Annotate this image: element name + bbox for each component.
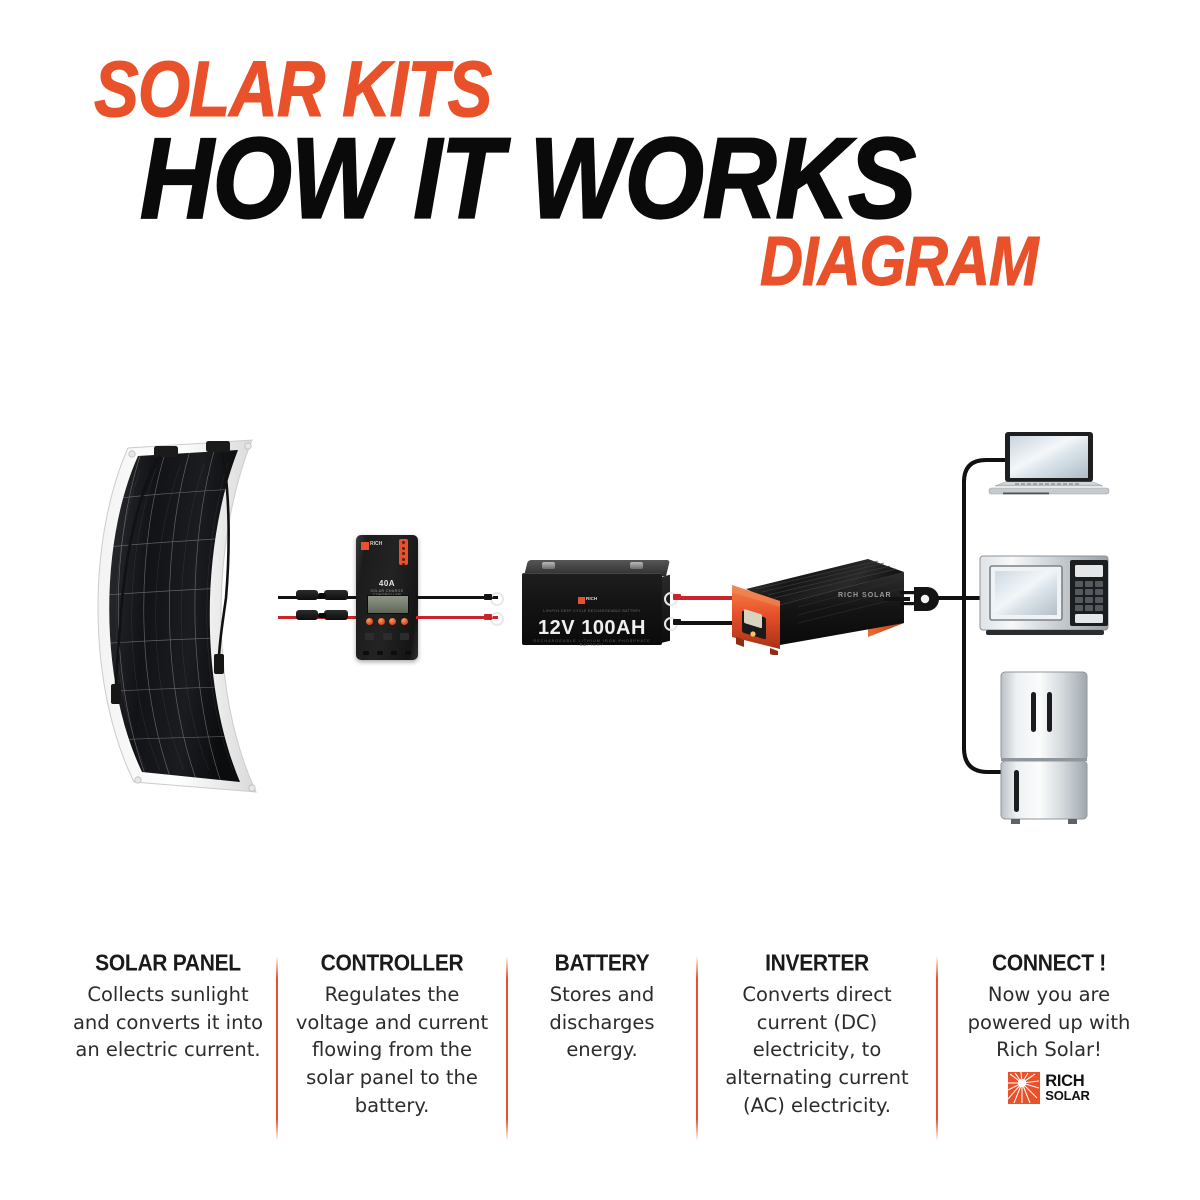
refrigerator-upper-door [1001,672,1087,760]
mc4-connector-male-positive [324,610,348,620]
controller-button[interactable] [366,618,373,625]
footer-column-battery: BATTERY Stores and discharges energy. [508,952,696,1141]
ring-terminal-inverter-positive [664,591,678,603]
footer-title-inverter: INVERTER [706,952,928,975]
charge-controller[interactable]: RICH 40A SOLAR CHARGE CONTROLLER [356,535,418,660]
ring-boot [484,614,492,620]
footer-column-inverter: INVERTER Converts direct current (DC) el… [698,952,936,1141]
footer-column-controller: CONTROLLER Regulates the voltage and cur… [278,952,506,1141]
led-indicator [402,563,405,566]
battery: RICH LiFePO4 DEEP CYCLE RECHARGEABLE BAT… [522,560,670,645]
header: SOLAR KITS HOW IT WORKS DIAGRAM [0,0,1200,320]
rich-solar-sunburst-icon [1008,1072,1040,1104]
battery-rating: 12V 100AH [522,617,662,640]
laptop-keys [1015,483,1079,485]
refrigerator-handle [1047,692,1052,732]
terminal-port [363,651,369,655]
microwave-base [986,630,1104,635]
mc4-pin-positive [318,613,326,618]
footer-title-controller: CONTROLLER [286,952,498,975]
battery-logo-mark [578,597,585,604]
refrigerator-foot [1011,819,1020,824]
mc4-connector-female-positive [296,610,318,620]
mc4-connector-male-negative [324,590,348,600]
footer-body-connect: Now you are powered up with Rich Solar! [946,981,1152,1064]
refrigerator [995,670,1091,825]
led-indicator [402,552,405,555]
microwave [978,552,1114,644]
panel-mc4-connector [214,654,224,674]
footer: SOLAR PANEL Collects sunlight and conver… [0,952,1200,1162]
footer-body-battery: Stores and discharges energy. [516,981,688,1064]
panel-junction-box [154,446,178,457]
mc4-pin-negative [318,593,326,598]
rich-solar-wordmark: RICH SOLAR [1045,1074,1090,1102]
microwave-display [1075,565,1103,577]
mc4-connector-female-negative [296,590,318,600]
controller-button[interactable] [389,618,396,625]
terminal-port [405,651,411,655]
led-indicator [402,547,405,550]
diagram-stage: RICH 40A SOLAR CHARGE CONTROLLER [0,400,1200,920]
battery-icon[interactable] [383,633,392,640]
panel-junction-box [206,441,230,452]
rich-solar-line2: SOLAR [1045,1090,1090,1102]
headline-diagram: DIAGRAM [760,228,1038,297]
footer-body-solar-panel: Collects sunlight and converts it into a… [68,981,268,1064]
controller-terminal-block [363,651,411,655]
controller-brand-name: RICH [370,542,382,546]
infographic-page: SOLAR KITS HOW IT WORKS DIAGRAM [0,0,1200,1200]
battery-terminal-positive [630,562,643,569]
refrigerator-handle [1031,692,1036,732]
controller-model: 40A [356,579,418,588]
footer-title-connect: CONNECT ! [946,952,1152,975]
plug-cord-ring [921,595,929,603]
refrigerator-freezer-drawer [1001,761,1087,819]
panel-grommet [249,785,255,791]
footer-columns: SOLAR PANEL Collects sunlight and conver… [60,952,1150,1141]
rich-solar-logo: RICH SOLAR [946,1072,1152,1104]
ring-terminal-positive [490,611,504,623]
ring-terminal-inverter-negative [664,616,678,628]
laptop-screen [1010,436,1088,478]
plug-prong [900,602,915,605]
battery-brand-name: RICH [586,596,597,601]
controller-brand-logo: RICH [361,542,381,551]
panel-grommet [129,451,135,457]
usb-icon[interactable] [365,633,374,640]
controller-button[interactable] [378,618,385,625]
ring-boot [673,594,681,600]
refrigerator-foot [1068,819,1077,824]
inverter-power-indicator [750,631,755,636]
ring-boot [484,594,492,600]
footer-column-connect: CONNECT ! Now you are powered up with Ri… [938,952,1160,1141]
microwave-window [995,571,1057,615]
solar-panel [80,430,310,800]
controller-button-row[interactable] [366,618,408,625]
plug-prong [900,591,915,594]
controller-logo-mark [361,542,369,550]
controller-lcd-display [367,595,409,614]
led-indicator [402,558,405,561]
ring-lug [490,592,504,606]
terminal-port [391,651,397,655]
battery-front-face: RICH LiFePO4 DEEP CYCLE RECHARGEABLE BAT… [522,573,662,645]
battery-spec-line: LiFePO4 DEEP CYCLE RECHARGEABLE BATTERY [522,609,662,613]
battery-sub-line: RECHARGEABLE LITHIUM IRON PHOSPHATE BATT… [522,639,662,647]
microwave-start-button [1075,614,1103,623]
footer-title-solar-panel: SOLAR PANEL [68,952,268,975]
controller-led-strip [399,539,408,565]
footer-column-solar-panel: SOLAR PANEL Collects sunlight and conver… [60,952,276,1141]
battery-brand-logo: RICH [578,596,612,606]
controller-icon-row[interactable] [365,633,409,640]
laptop [985,430,1110,500]
footer-title-battery: BATTERY [516,952,688,975]
controller-button[interactable] [401,618,408,625]
ring-terminal-negative [490,591,504,603]
footer-body-inverter: Converts direct current (DC) electricity… [706,981,928,1119]
panel-grommet [245,443,251,449]
laptop-trackpad-edge [1003,493,1049,495]
inverter-foot [770,648,778,655]
freezer-handle [1014,770,1019,812]
load-icon[interactable] [400,633,409,640]
led-indicator [402,541,405,544]
battery-terminal-negative [542,562,555,569]
ring-lug [490,612,504,626]
panel-mc4-connector [111,684,121,704]
panel-grommet [135,777,141,783]
terminal-port [377,651,383,655]
footer-body-controller: Regulates the voltage and current flowin… [286,981,498,1119]
ring-boot [673,619,681,625]
headline-how-it-works: HOW IT WORKS [140,122,915,236]
